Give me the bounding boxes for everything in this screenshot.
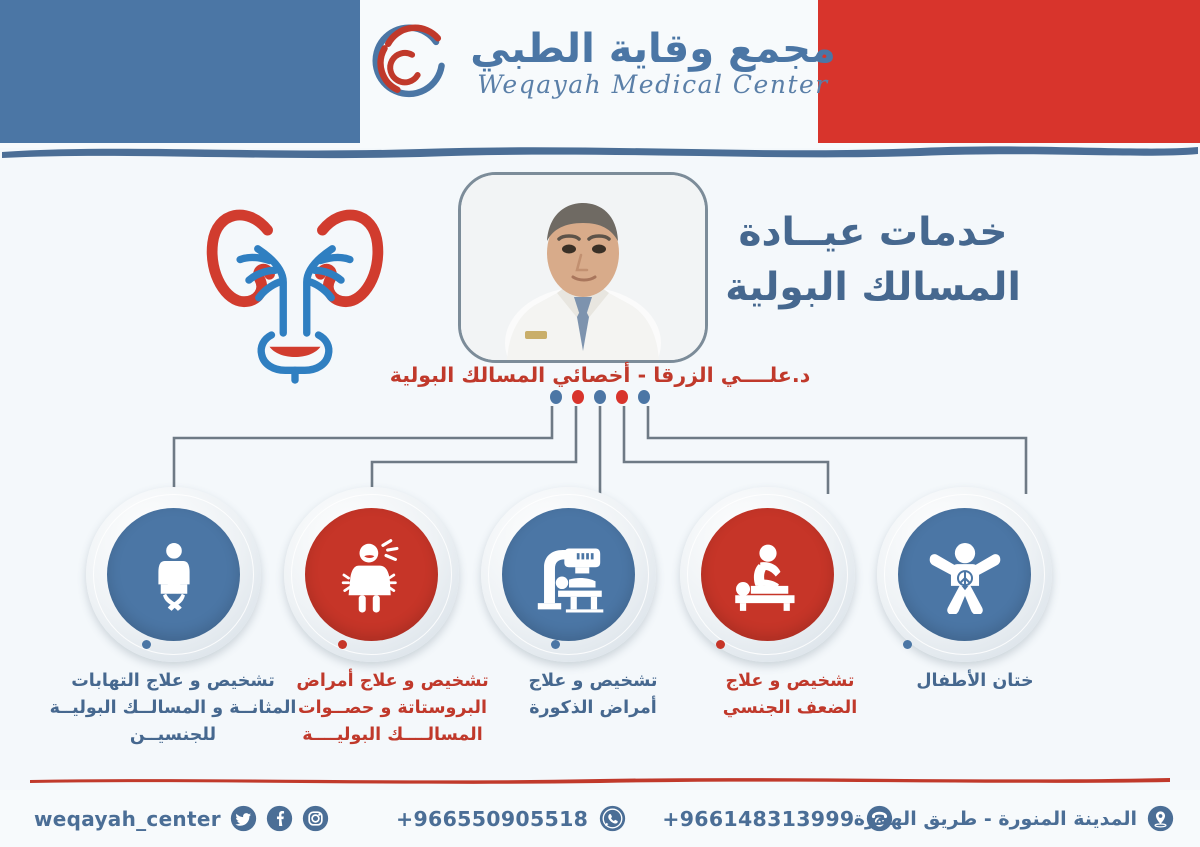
twitter-icon[interactable] — [230, 805, 257, 832]
service-marker-dot — [142, 640, 151, 649]
doctor-name: د.علــــي الزرقا - أخصائي المسالك البولي… — [0, 363, 1200, 387]
doctor-photo-card — [458, 172, 708, 363]
service-circle-2[interactable] — [284, 487, 459, 662]
service-caption-3: تشخيص و علاج أمراض الذكورة — [498, 668, 688, 722]
brand-name-english: Weqayah Medical Center — [477, 70, 829, 100]
facebook-icon[interactable] — [266, 805, 293, 832]
service-disc — [898, 508, 1031, 641]
urinary-system-icon — [197, 188, 393, 384]
page-title-line1: خدمات عيــادة — [708, 205, 1038, 260]
footer-divider — [0, 776, 1200, 784]
service-circle-4[interactable] — [680, 487, 855, 662]
header-block-red — [818, 0, 1200, 143]
service-disc — [701, 508, 834, 641]
service-disc — [502, 508, 635, 641]
infographic-page: مجمع وقاية الطبي Weqayah Medical Center — [0, 0, 1200, 847]
brand-logo: مجمع وقاية الطبي Weqayah Medical Center — [364, 18, 835, 110]
header: مجمع وقاية الطبي Weqayah Medical Center — [0, 0, 1200, 148]
whatsapp-number: +966550905518 — [396, 807, 588, 831]
brand-name-arabic: مجمع وقاية الطبي — [470, 28, 835, 70]
service-caption-2: تشخيص و علاج أمراض البروستاتة و حصــوات … — [285, 668, 500, 749]
service-marker-dot — [903, 640, 912, 649]
service-marker-dot — [716, 640, 725, 649]
page-title: خدمات عيــادة المسالك البولية — [708, 205, 1038, 316]
person-crossed-legs-icon — [135, 536, 213, 614]
service-circle-1[interactable] — [86, 487, 261, 662]
child-figure-icon — [926, 536, 1004, 614]
whatsapp-icon[interactable] — [599, 805, 626, 832]
social-handle: weqayah_center — [34, 807, 221, 831]
service-disc — [107, 508, 240, 641]
services-row — [0, 487, 1200, 662]
brush-divider — [0, 140, 1200, 160]
service-caption-4: تشخيص و علاج الضعف الجنسي — [695, 668, 885, 722]
abdominal-pain-person-icon — [333, 536, 411, 614]
service-marker-dot — [551, 640, 560, 649]
footer: weqayah_center +966550905518 — [0, 790, 1200, 847]
landline-number: +966148313999 — [662, 807, 854, 831]
service-captions: تشخيص و علاج التهابات المثانــة و المسال… — [0, 668, 1200, 768]
service-marker-dot — [338, 640, 347, 649]
therapist-treating-patient-icon — [729, 536, 807, 614]
service-circle-3[interactable] — [481, 487, 656, 662]
instagram-icon[interactable] — [302, 805, 329, 832]
footer-phones: +966550905518 +966148313999 — [396, 805, 893, 832]
service-disc — [305, 508, 438, 641]
location-pin-icon — [1147, 805, 1174, 832]
service-caption-1: تشخيص و علاج التهابات المثانــة و المسال… — [48, 668, 298, 749]
page-title-line2: المسالك البولية — [708, 260, 1038, 315]
address-text: المدينة المنورة - طريق الهجرة — [854, 808, 1137, 830]
footer-address: المدينة المنورة - طريق الهجرة — [854, 805, 1174, 832]
service-circle-5[interactable] — [877, 487, 1052, 662]
medical-imaging-scanner-icon — [530, 536, 608, 614]
doctor-portrait — [461, 175, 705, 360]
circle-swoosh-logo-icon — [364, 18, 456, 110]
header-block-blue — [0, 0, 360, 143]
service-caption-5: ختان الأطفال — [880, 668, 1070, 695]
footer-social: weqayah_center — [34, 805, 329, 832]
